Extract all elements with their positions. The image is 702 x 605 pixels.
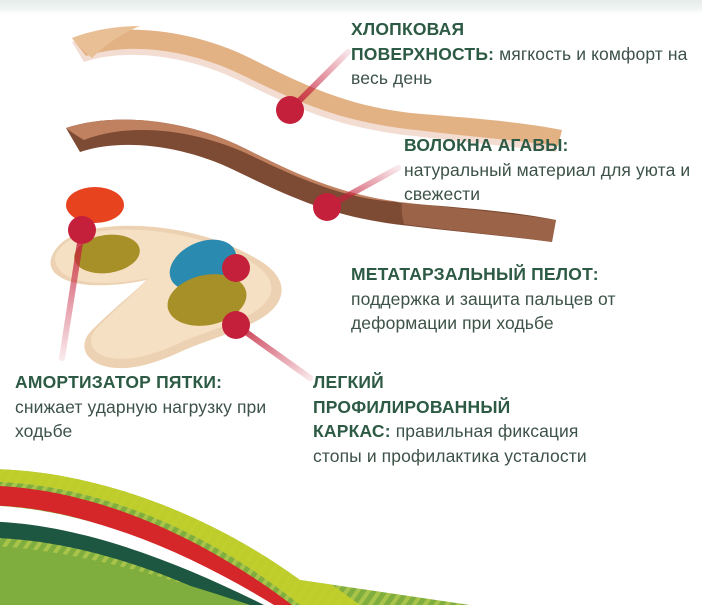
callout-heading-cotton-line2: ПОВЕРХНОСТЬ: [351, 44, 494, 64]
metatarsal-pad-shape [162, 230, 245, 300]
marker-dot-heel [68, 216, 96, 244]
marker-dot-cotton [276, 96, 304, 124]
insole-infographic: ХЛОПКОВАЯ ПОВЕРХНОСТЬ: мягкость и комфор… [0, 0, 702, 605]
callout-heading-heel: АМОРТИЗАТОР ПЯТКИ: [15, 372, 222, 392]
callout-heading-metatarsal: МЕТАТАРЗАЛЬНЫЙ ПЕЛОТ: [351, 264, 599, 284]
callout-heading-frame-line2: ПРОФИЛИРОВАННЫЙ [313, 397, 510, 417]
callout-heading-frame-line3: КАРКАС: [313, 421, 391, 441]
leader-line-cotton [290, 52, 348, 110]
callout-heading-frame-line1: ЛЕГКИЙ [313, 372, 384, 392]
marker-dot-frame [222, 311, 250, 339]
callout-agave-fibers: ВОЛОКНА АГАВЫ: натуральный материал для … [404, 133, 699, 207]
callout-heading-agave: ВОЛОКНА АГАВЫ: [404, 135, 569, 155]
arch-support-shape [163, 267, 252, 333]
callout-cotton-surface: ХЛОПКОВАЯ ПОВЕРХНОСТЬ: мягкость и комфор… [351, 17, 696, 91]
callout-body-agave: натуральный материал для уюта и свежести [404, 160, 690, 205]
leader-line-heel [62, 230, 82, 358]
callout-light-profiled-frame: ЛЕГКИЙ ПРОФИЛИРОВАННЫЙ КАРКАС: правильна… [313, 370, 603, 468]
callout-heading-cotton-line1: ХЛОПКОВАЯ [351, 19, 464, 39]
leader-line-agave [327, 168, 398, 207]
marker-dot-agave [313, 193, 341, 221]
callout-body-metatarsal: поддержка и защита пальцев от деформации… [351, 289, 616, 334]
heel-pad-shape [72, 231, 143, 278]
marker-dot-metatarsal [222, 254, 250, 282]
callout-body-heel: снижает ударную нагрузку при ходьбе [15, 397, 266, 442]
top-gradient-bar [0, 0, 702, 14]
callout-metatarsal-pad: МЕТАТАРЗАЛЬНЫЙ ПЕЛОТ: поддержка и защита… [351, 262, 696, 336]
frame-base-layer [51, 226, 282, 368]
heel-cushion-accent [66, 187, 124, 223]
callout-heel-shock-absorber: АМОРТИЗАТОР ПЯТКИ: снижает ударную нагру… [15, 370, 305, 444]
